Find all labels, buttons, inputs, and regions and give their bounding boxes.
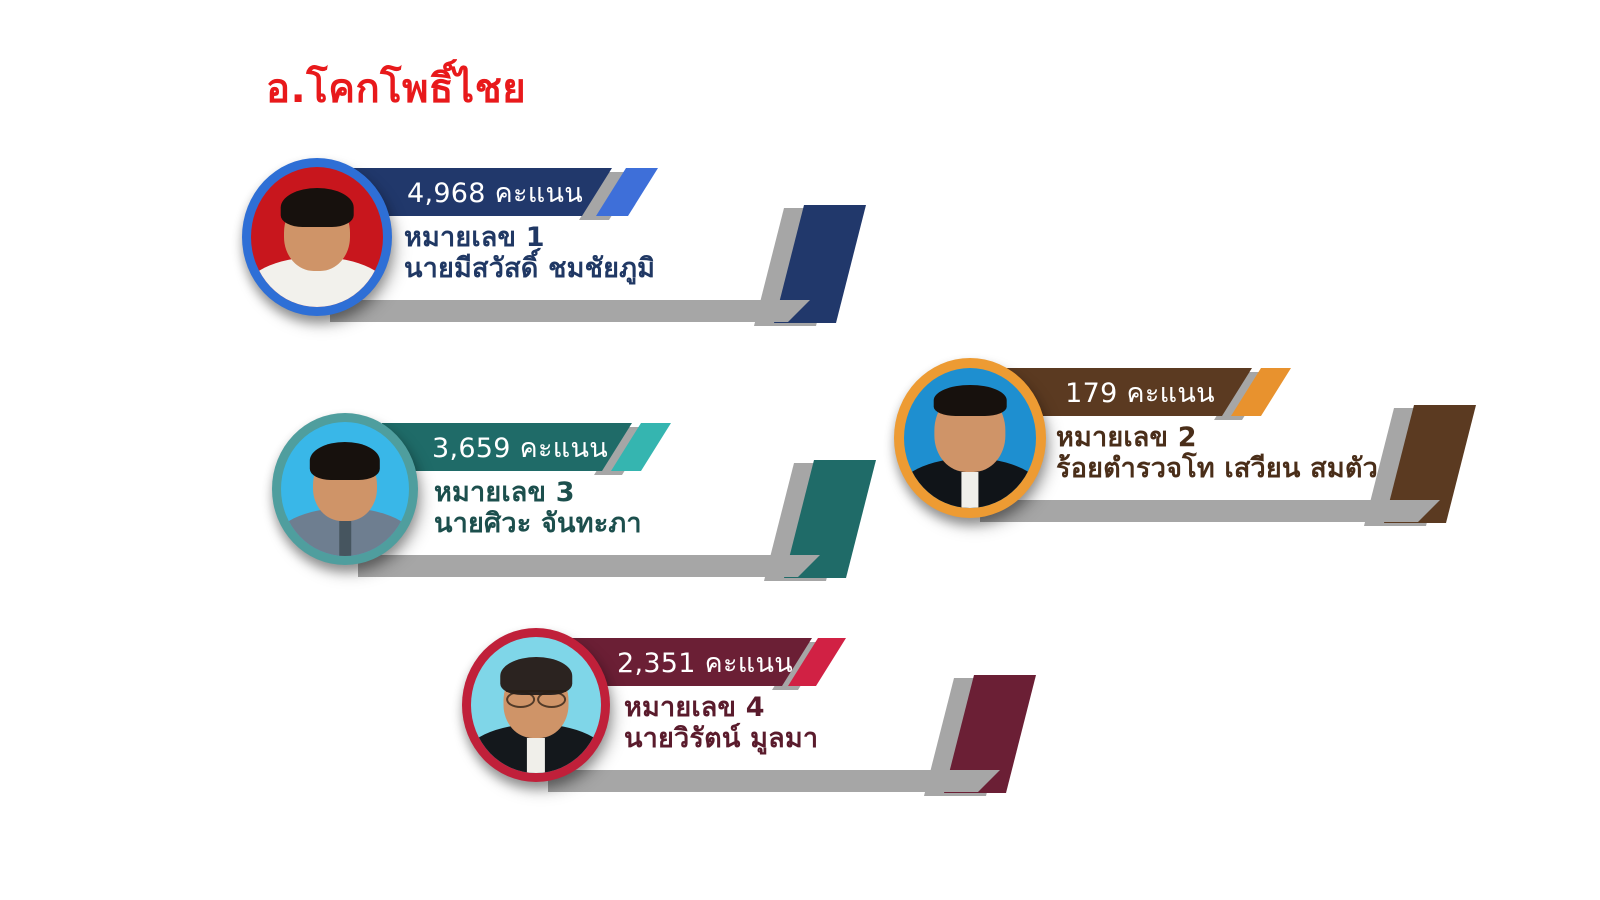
card-2-name: ร้อยตำรวจโท เสวียน สมตัว bbox=[1056, 453, 1378, 484]
card-2-number-label: หมายเลข 2 bbox=[1056, 422, 1378, 453]
card-3-banner: 3,659 คะแนน bbox=[382, 423, 632, 471]
card-4-name: นายวิรัตน์ มูลมา bbox=[624, 723, 818, 754]
card-3-portrait-photo bbox=[281, 422, 409, 556]
card-2-text: หมายเลข 2 ร้อยตำรวจโท เสวียน สมตัว bbox=[1056, 422, 1378, 485]
card-4-number-label: หมายเลข 4 bbox=[624, 692, 818, 723]
card-2-score: 179 คะแนน bbox=[1013, 371, 1241, 414]
card-1-score: 4,968 คะแนน bbox=[355, 171, 609, 214]
card-2-base-bar bbox=[980, 500, 1440, 522]
card-1-portrait-photo bbox=[251, 167, 383, 307]
card-4-portrait[interactable] bbox=[462, 628, 610, 782]
card-1-name: นายมีสวัสดิ์ ชมชัยภูมิ bbox=[404, 253, 655, 284]
card-1-banner: 4,968 คะแนน bbox=[352, 168, 612, 216]
card-1-number-label: หมายเลข 1 bbox=[404, 222, 655, 253]
card-1-text: หมายเลข 1 นายมีสวัสดิ์ ชมชัยภูมิ bbox=[404, 222, 655, 285]
card-4-portrait-photo bbox=[471, 637, 601, 773]
card-3-score: 3,659 คะแนน bbox=[380, 426, 634, 469]
card-1-base-bar bbox=[330, 300, 810, 322]
card-4-base-bar bbox=[548, 770, 1000, 792]
card-3-portrait[interactable] bbox=[272, 413, 418, 565]
card-4-text: หมายเลข 4 นายวิรัตน์ มูลมา bbox=[624, 692, 818, 755]
card-3-base-bar bbox=[358, 555, 820, 577]
card-3-text: หมายเลข 3 นายศิวะ จันทะภา bbox=[434, 477, 642, 540]
candidate-card-1[interactable]: 4,968 คะแนน หมายเลข 1 นายมีสวัสดิ์ ชมชัย… bbox=[234, 150, 1104, 340]
candidate-card-4[interactable]: 2,351 คะแนน หมายเลข 4 นายวิรัตน์ มูลมา bbox=[454, 620, 1154, 810]
card-1-portrait[interactable] bbox=[242, 158, 392, 316]
card-4-banner: 2,351 คะแนน bbox=[572, 638, 812, 686]
card-2-portrait[interactable] bbox=[894, 358, 1046, 518]
portrait-glasses-icon bbox=[506, 690, 566, 705]
candidate-card-2[interactable]: 179 คะแนน หมายเลข 2 ร้อยตำรวจโท เสวียน ส… bbox=[884, 350, 1584, 540]
page-title: อ.โคกโพธิ์ไชย bbox=[266, 56, 526, 120]
card-3-number-label: หมายเลข 3 bbox=[434, 477, 642, 508]
card-3-name: นายศิวะ จันทะภา bbox=[434, 508, 642, 539]
card-2-portrait-photo bbox=[904, 368, 1036, 508]
